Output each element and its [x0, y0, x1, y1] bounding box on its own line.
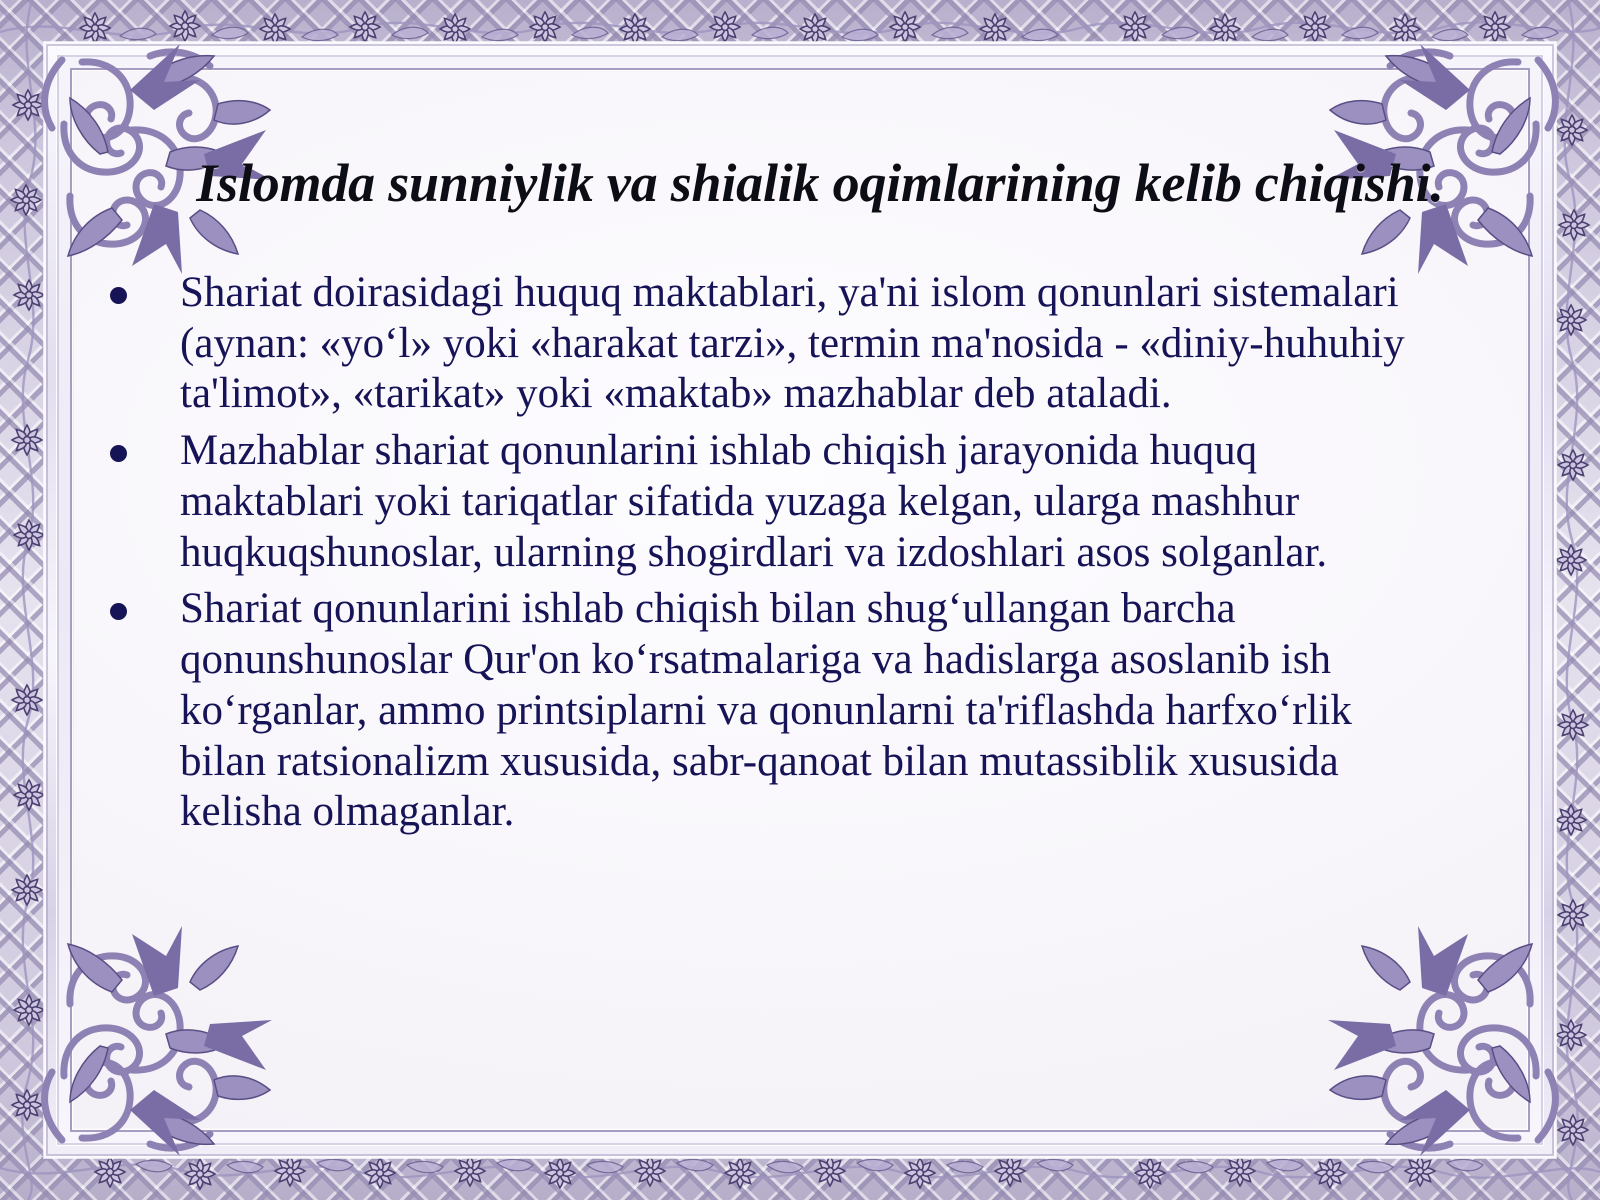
list-item-text: Mazhablar shariat qonunlarini ishlab chi… — [180, 427, 1327, 575]
bullet-dot-icon — [110, 445, 127, 462]
list-item: Shariat doirasidagi huquq maktablari, ya… — [102, 268, 1426, 420]
bullet-dot-icon — [110, 603, 127, 620]
page-title: Islomda sunniylik va shialik oqimlarinin… — [74, 152, 1526, 214]
presentation-slide: Islomda sunniylik va shialik oqimlarinin… — [0, 0, 1600, 1200]
slide-content-area: Islomda sunniylik va shialik oqimlarinin… — [74, 72, 1526, 1128]
list-item: Shariat qonunlarini ishlab chiqish bilan… — [102, 584, 1426, 838]
list-item-text: Shariat qonunlarini ishlab chiqish bilan… — [180, 585, 1352, 835]
list-item: Mazhablar shariat qonunlarini ishlab chi… — [102, 426, 1426, 578]
bullet-list: Shariat doirasidagi huquq maktablari, ya… — [102, 268, 1426, 844]
list-item-text: Shariat doirasidagi huquq maktablari, ya… — [180, 269, 1405, 417]
bullet-dot-icon — [110, 287, 127, 304]
